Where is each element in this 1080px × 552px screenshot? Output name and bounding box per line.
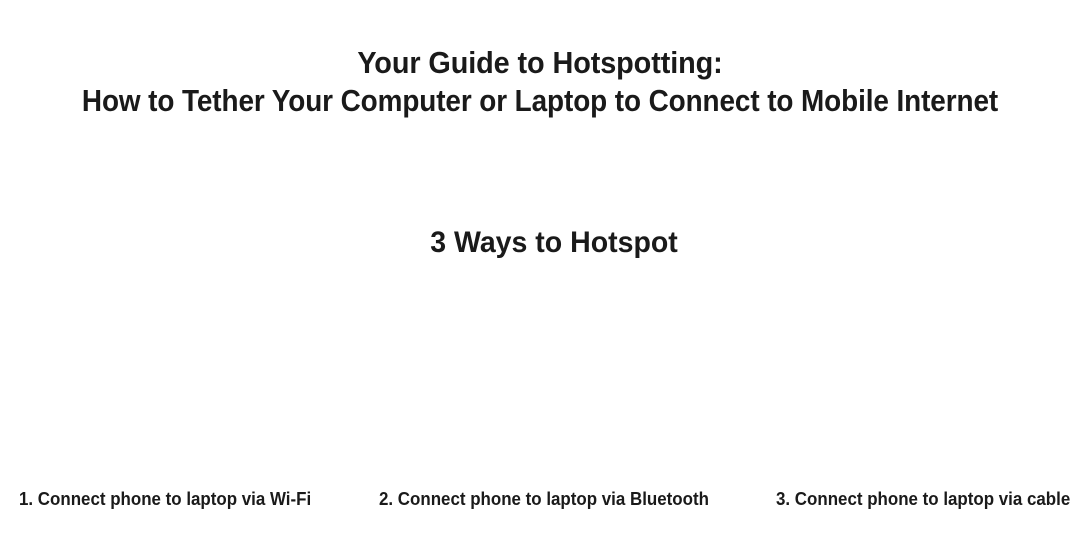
- illustration-slot-wifi: [0, 278, 360, 476]
- illustration-slot-bluetooth: [360, 278, 720, 476]
- caption-cable: 3. Connect phone to laptop via cable: [776, 488, 1070, 510]
- caption-row: 1. Connect phone to laptop via Wi-Fi 2. …: [0, 488, 1080, 514]
- page-title-line-2: How to Tether Your Computer or Laptop to…: [54, 82, 1026, 120]
- section-heading: 3 Ways to Hotspot: [28, 224, 1080, 262]
- infographic-page: Your Guide to Hotspotting: How to Tether…: [0, 0, 1080, 552]
- caption-wifi: 1. Connect phone to laptop via Wi-Fi: [19, 488, 311, 510]
- illustration-slot-cable: [720, 278, 1080, 476]
- page-title: Your Guide to Hotspotting: How to Tether…: [0, 44, 1080, 120]
- caption-bluetooth: 2. Connect phone to laptop via Bluetooth: [379, 488, 709, 510]
- illustration-band: [0, 278, 1080, 476]
- page-title-line-1: Your Guide to Hotspotting:: [38, 44, 1042, 82]
